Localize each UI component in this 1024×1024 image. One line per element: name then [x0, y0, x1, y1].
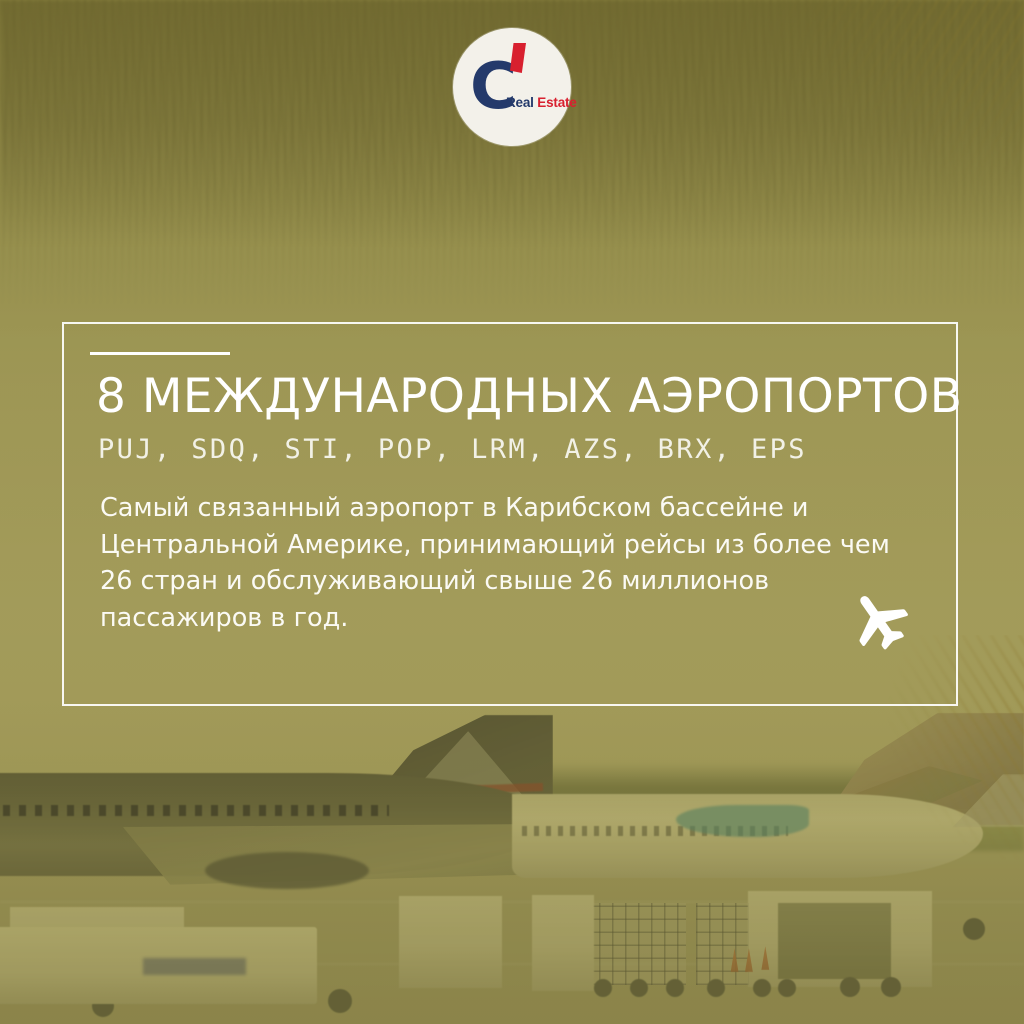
logo-inner: C Real Estate	[462, 37, 562, 137]
body-paragraph: Самый связанный аэропорт в Карибском бас…	[100, 490, 930, 637]
divider-rule	[90, 352, 230, 355]
logo-word-estate: Estate	[537, 95, 576, 110]
content-frame: 8 МЕЖДУНАРОДНЫХ АЭРОПОРТОВ PUJ, SDQ, STI…	[62, 322, 958, 706]
airplane-icon	[846, 588, 914, 656]
poster-canvas: C Real Estate 8 МЕЖДУНАРОДНЫХ АЭРОПОРТОВ…	[0, 0, 1024, 1024]
apostrophe-icon	[510, 43, 526, 73]
page-title: 8 МЕЖДУНАРОДНЫХ АЭРОПОРТОВ	[96, 372, 963, 421]
brand-logo[interactable]: C Real Estate	[453, 28, 571, 146]
logo-wordmark: Real Estate	[506, 95, 577, 110]
airport-codes-list: PUJ, SDQ, STI, POP, LRM, AZS, BRX, EPS	[98, 434, 807, 466]
logo-word-real: Real	[506, 95, 534, 110]
